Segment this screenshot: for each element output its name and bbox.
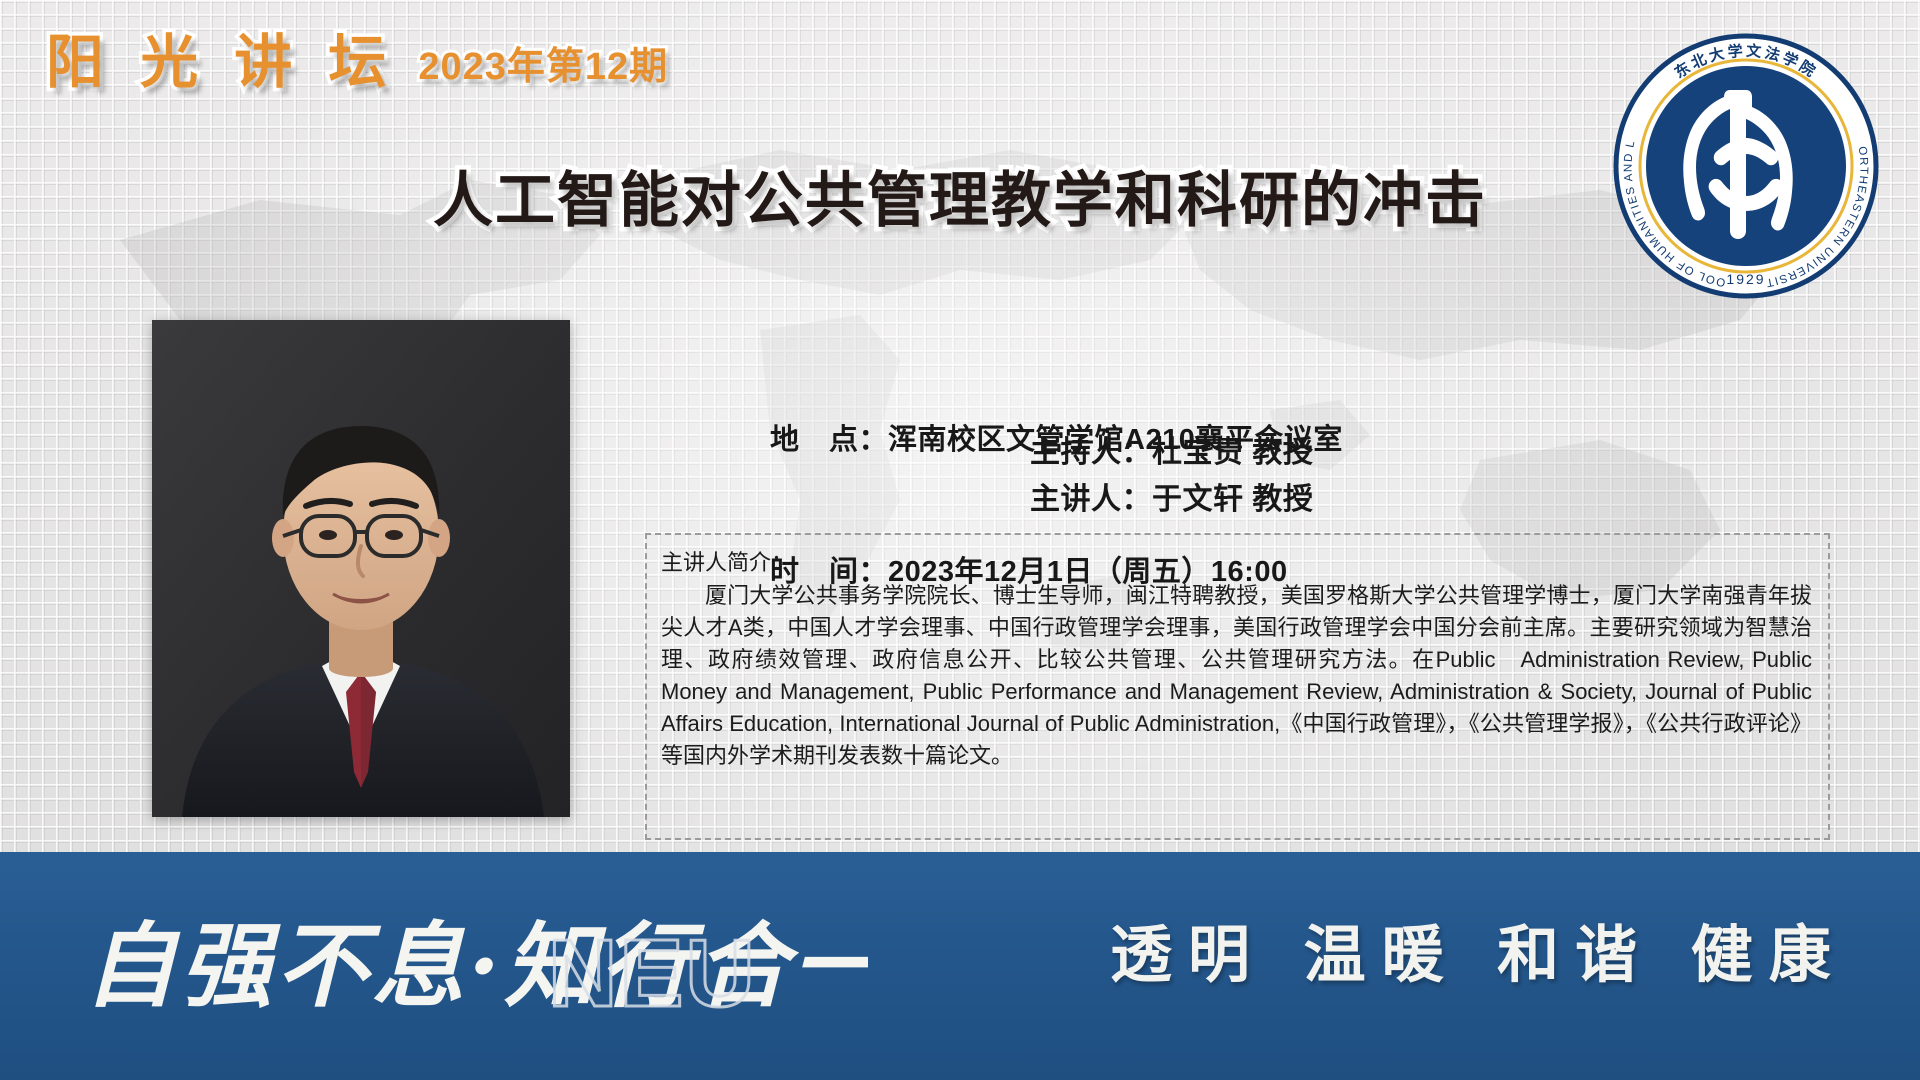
- footer-band: 自强不息·知行合一 NEU 透明 温暖 和谐 健康: [0, 852, 1920, 1080]
- footer-slogan: 透明 温暖 和谐 健康: [1110, 904, 1847, 994]
- brand-title: 阳 光 讲 坛: [46, 34, 396, 92]
- svg-text:1929: 1929: [1726, 271, 1765, 287]
- header: 阳 光 讲 坛 2023年第12期: [46, 34, 668, 92]
- motto-neu-overlay: NEU: [548, 920, 757, 1027]
- poster-title: 人工智能对公共管理教学和科研的冲击: [0, 168, 1920, 234]
- poster-canvas: 阳 光 讲 坛 2023年第12期 东北大学文法学院: [0, 0, 1920, 1080]
- event-speaker: 主讲人：于文轩 教授: [1030, 477, 1313, 524]
- speaker-bio-heading: 主讲人简介：: [661, 547, 1812, 579]
- speaker-portrait: [152, 320, 570, 817]
- event-host: 主持人：杜宝贵 教授: [1030, 430, 1313, 477]
- brand-issue: 2023年第12期: [418, 48, 668, 92]
- motto-calligraphy: 自强不息·知行合一 NEU: [78, 894, 868, 1034]
- university-logo: 东北大学文法学院 SCHOOL OF HUMANITIES AND LAW NO…: [1612, 32, 1880, 300]
- event-people: 主持人：杜宝贵 教授 主讲人：于文轩 教授: [1030, 430, 1313, 523]
- speaker-bio-box: 主讲人简介： 厦门大学公共事务学院院长、博士生导师，闽江特聘教授，美国罗格斯大学…: [645, 533, 1830, 840]
- speaker-bio-text: 厦门大学公共事务学院院长、博士生导师，闽江特聘教授，美国罗格斯大学公共管理学博士…: [661, 580, 1812, 773]
